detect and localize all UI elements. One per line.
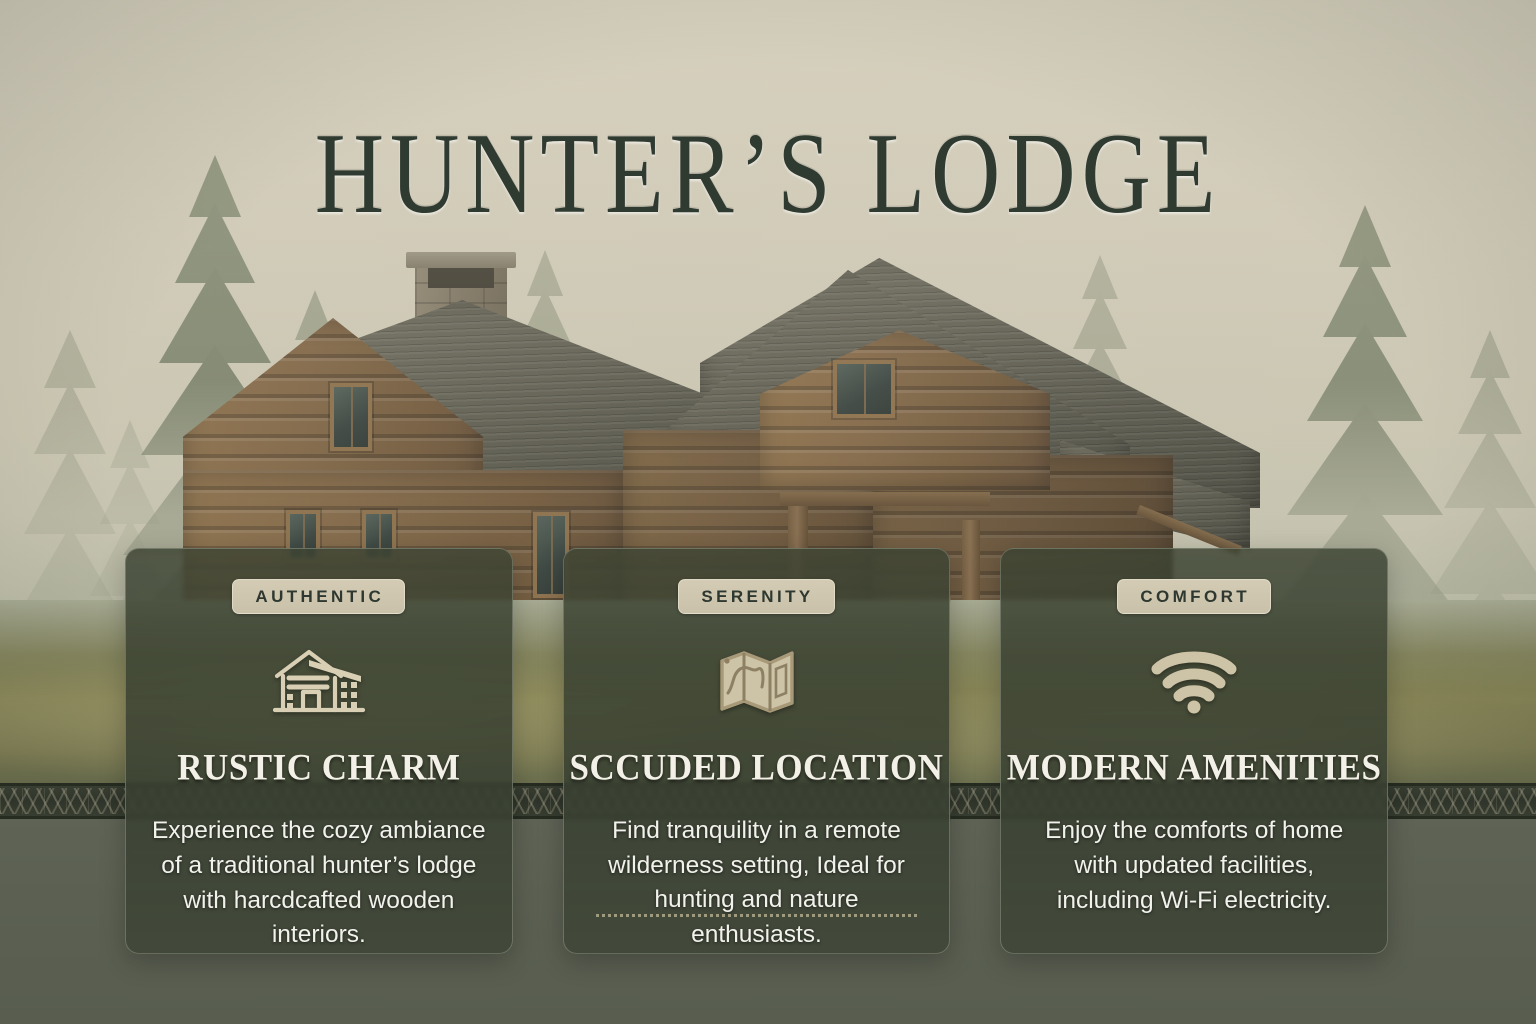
chimney-flue — [428, 268, 494, 288]
porch-beam — [780, 492, 990, 506]
card-badge: SERENITY — [678, 579, 834, 614]
folded-map-icon — [718, 646, 796, 718]
cabin-lodge-icon — [269, 646, 369, 718]
feature-card-modern-amenities[interactable]: COMFORT MODERN AMENITIES Enjoy the comfo… — [1000, 548, 1388, 954]
feature-card-secluded-location[interactable]: SERENITY SCCUDED LOCATION Find tranquili… — [563, 548, 951, 954]
window-upper-left — [330, 383, 372, 451]
poster-canvas: HUNTER’S LODGE AUTHENTIC — [0, 0, 1536, 1024]
window-upper-right — [833, 360, 895, 418]
card-body: Experience the cozy ambiance of a tradit… — [126, 814, 512, 953]
feature-card-row: AUTHENTIC — [125, 548, 1388, 954]
card-title: MODERN AMENITIES — [1007, 747, 1382, 789]
card-body: Enjoy the comforts of home with updated … — [1001, 814, 1387, 918]
page-title: HUNTER’S LODGE — [15, 108, 1520, 240]
card-badge: AUTHENTIC — [232, 579, 405, 614]
feature-card-rustic-charm[interactable]: AUTHENTIC — [125, 548, 513, 954]
card-divider — [596, 914, 918, 917]
card-title: RUSTIC CHARM — [177, 747, 460, 789]
card-title: SCCUDED LOCATION — [570, 747, 944, 789]
card-badge: COMFORT — [1117, 579, 1271, 614]
chimney-cap — [406, 252, 516, 268]
wifi-icon — [1151, 646, 1237, 718]
card-body: Find tranquility in a remote wilderness … — [564, 814, 950, 953]
